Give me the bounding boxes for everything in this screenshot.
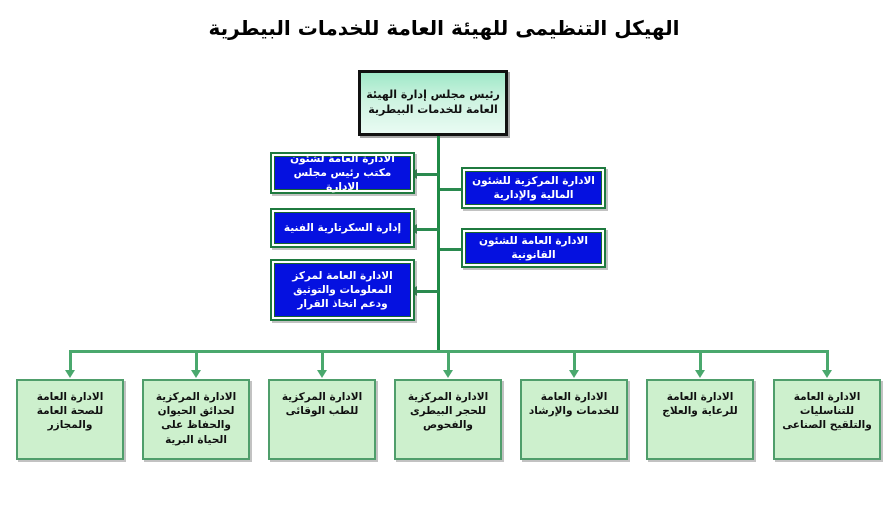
connector-dept-7 <box>826 350 829 372</box>
node-staff-left-1-label: الادارة العامة لشئون مكتب رئيس مجلس الاد… <box>275 152 410 195</box>
page-title: الهيكل التنظيمى للهيئة العامة للخدمات ال… <box>0 16 888 40</box>
node-staff-right-1[interactable]: الادارة المركزية للشئون المالية والإداري… <box>461 167 606 209</box>
node-chairman[interactable]: رئيس مجلس إدارة الهيئة العامة للخدمات ال… <box>358 70 508 136</box>
connector-dept-6 <box>699 350 702 372</box>
node-staff-right-2[interactable]: الادارة العامة للشئون القانونية <box>461 228 606 268</box>
arrow-dept-1-icon <box>65 370 75 378</box>
org-chart: الهيكل التنظيمى للهيئة العامة للخدمات ال… <box>0 0 888 522</box>
node-staff-left-1[interactable]: الادارة العامة لشئون مكتب رئيس مجلس الاد… <box>270 152 415 194</box>
node-department-2-label: الادارة المركزية لحدائق الحيوان والحفاظ … <box>144 390 248 447</box>
node-department-5-label: الادارة العامة للخدمات والإرشاد <box>522 390 626 418</box>
node-department-4[interactable]: الادارة المركزية للحجر البيطرى والفحوص <box>394 379 502 460</box>
node-department-6-label: الادارة العامة للرعاية والعلاج <box>648 390 752 418</box>
node-department-3-label: الادارة المركزية للطب الوقائى <box>270 390 374 418</box>
connector-dept-4 <box>447 350 450 372</box>
arrow-dept-2-icon <box>191 370 201 378</box>
connector-dept-5 <box>573 350 576 372</box>
node-department-4-label: الادارة المركزية للحجر البيطرى والفحوص <box>396 390 500 433</box>
arrow-dept-6-icon <box>695 370 705 378</box>
connector-staff-left-2 <box>417 228 439 231</box>
node-department-7[interactable]: الادارة العامة للتناسليات والتلقيح الصنا… <box>773 379 881 460</box>
node-staff-right-2-label: الادارة العامة للشئون القانونية <box>466 234 601 262</box>
node-staff-left-3[interactable]: الادارة العامة لمركز المعلومات والتوثيق … <box>270 259 415 321</box>
node-department-3[interactable]: الادارة المركزية للطب الوقائى <box>268 379 376 460</box>
connector-staff-left-3 <box>417 290 439 293</box>
connector-dept-2 <box>195 350 198 372</box>
node-staff-left-2[interactable]: إدارة السكرتارية الفنية <box>270 208 415 248</box>
node-department-1[interactable]: الادارة العامة للصحة العامة والمجازر <box>16 379 124 460</box>
arrow-dept-5-icon <box>569 370 579 378</box>
node-department-2[interactable]: الادارة المركزية لحدائق الحيوان والحفاظ … <box>142 379 250 460</box>
node-department-7-label: الادارة العامة للتناسليات والتلقيح الصنا… <box>775 390 879 433</box>
connector-staff-left-1 <box>417 173 439 176</box>
node-staff-left-3-label: الادارة العامة لمركز المعلومات والتوثيق … <box>275 269 410 312</box>
arrow-dept-4-icon <box>443 370 453 378</box>
node-chairman-label: رئيس مجلس إدارة الهيئة العامة للخدمات ال… <box>361 88 505 118</box>
connector-dept-3 <box>321 350 324 372</box>
node-staff-left-2-label: إدارة السكرتارية الفنية <box>275 221 410 235</box>
connector-dept-1 <box>69 350 72 372</box>
arrow-dept-7-icon <box>822 370 832 378</box>
node-department-5[interactable]: الادارة العامة للخدمات والإرشاد <box>520 379 628 460</box>
node-department-6[interactable]: الادارة العامة للرعاية والعلاج <box>646 379 754 460</box>
node-staff-right-1-label: الادارة المركزية للشئون المالية والإداري… <box>466 174 601 202</box>
connector-main-trunk <box>437 136 440 351</box>
arrow-dept-3-icon <box>317 370 327 378</box>
node-department-1-label: الادارة العامة للصحة العامة والمجازر <box>18 390 122 433</box>
connector-staff-right-2 <box>440 248 462 251</box>
connector-staff-right-1 <box>440 188 462 191</box>
